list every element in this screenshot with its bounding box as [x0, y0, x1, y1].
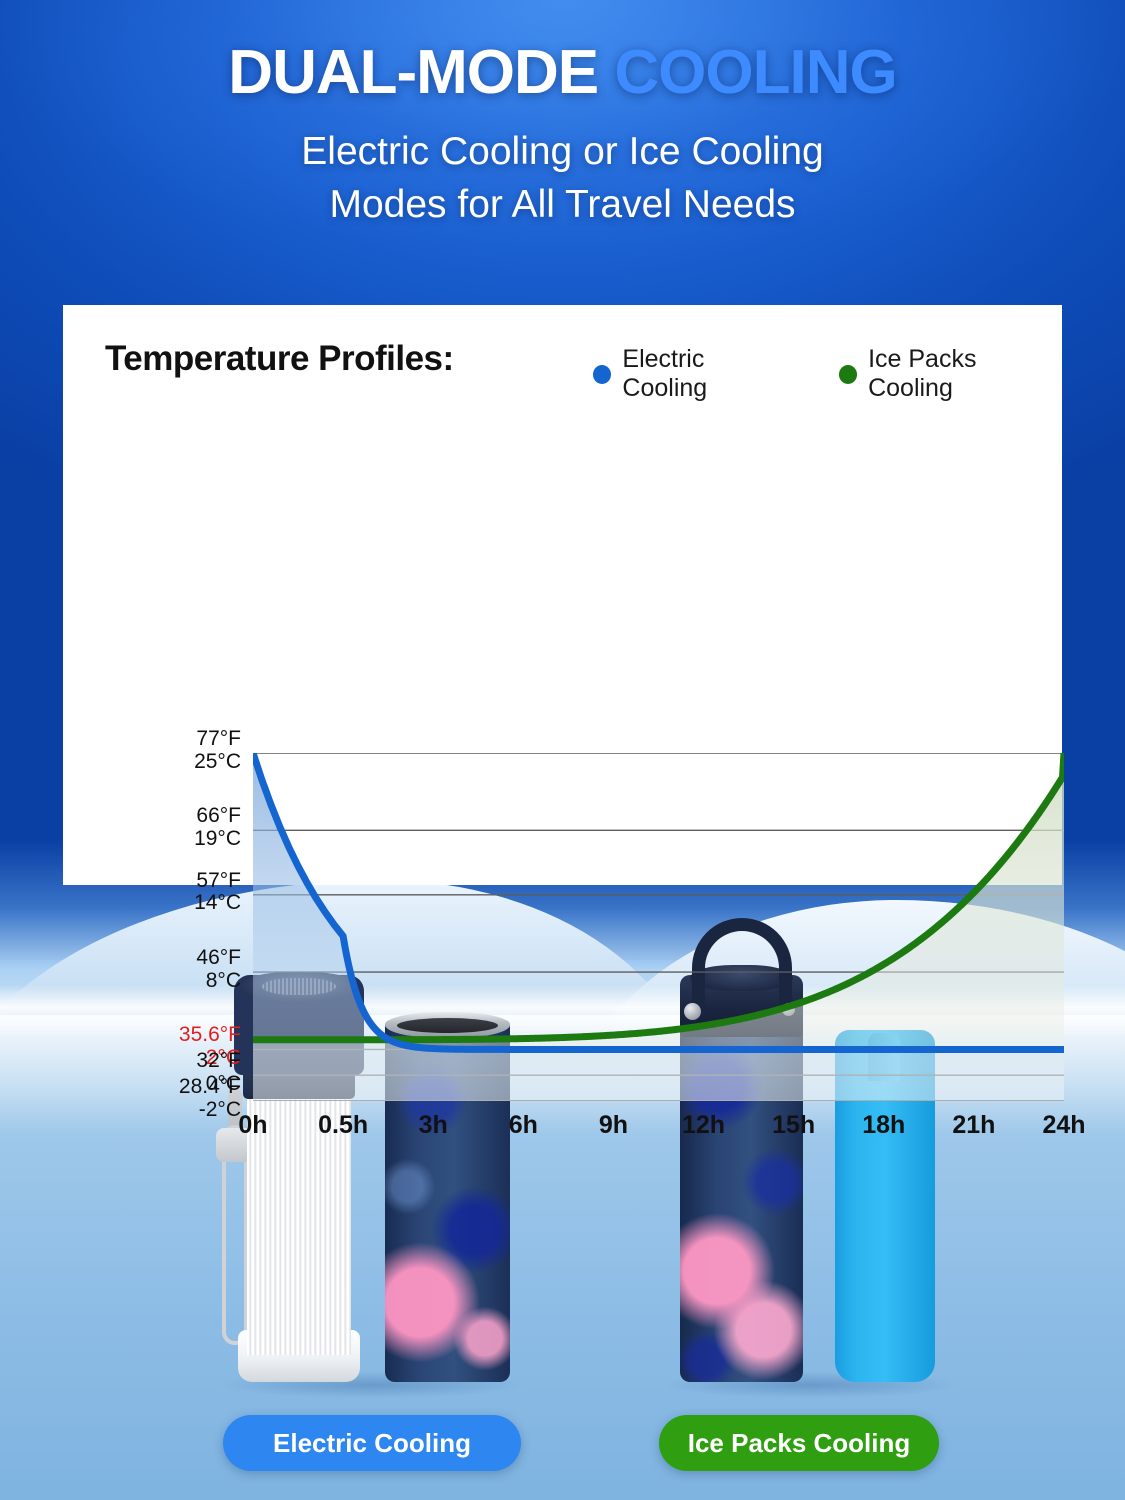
page-title-accent: COOLING [614, 38, 896, 107]
y-tick-fahrenheit: 77°F [71, 728, 241, 751]
pill-ice-packs-cooling[interactable]: Ice Packs Cooling [659, 1415, 939, 1471]
x-tick-label-0: 0h [238, 1111, 267, 1140]
temperature-chart-card: Temperature Profiles: Electric Cooling I… [63, 305, 1062, 885]
x-tick-label-6: 15h [772, 1111, 815, 1140]
legend-item-electric: Electric Cooling [593, 345, 791, 403]
y-tick-label-2: 57°F14°C [71, 870, 241, 915]
page-subtitle: Electric Cooling or Ice Cooling Modes fo… [0, 126, 1125, 231]
x-tick-label-4: 9h [599, 1111, 628, 1140]
y-tick-fahrenheit: 32°F [71, 1050, 241, 1073]
legend-label-electric: Electric Cooling [622, 345, 790, 403]
y-tick-fahrenheit: 66°F [71, 805, 241, 828]
y-tick-label-3: 46°F8°C [71, 947, 241, 992]
y-tick-celsius: 19°C [71, 828, 241, 851]
y-tick-fahrenheit: 57°F [71, 870, 241, 893]
chart-header: Temperature Profiles: Electric Cooling I… [63, 333, 1062, 387]
page-subtitle-line1: Electric Cooling or Ice Cooling [0, 126, 1125, 179]
page-title-main: DUAL-MODE [228, 38, 598, 107]
chart-plot-area [253, 753, 1064, 1101]
x-tick-label-1: 0.5h [318, 1111, 368, 1140]
legend-item-ice: Ice Packs Cooling [839, 345, 1062, 403]
x-tick-label-5: 12h [682, 1111, 725, 1140]
legend-label-ice: Ice Packs Cooling [868, 345, 1062, 403]
y-tick-celsius: 25°C [71, 751, 241, 774]
x-tick-label-7: 18h [862, 1111, 905, 1140]
page-subtitle-line2: Modes for All Travel Needs [0, 179, 1125, 232]
x-tick-label-2: 3h [419, 1111, 448, 1140]
chart-legend: Electric Cooling Ice Packs Cooling [593, 345, 1062, 403]
pill-electric-cooling[interactable]: Electric Cooling [223, 1415, 521, 1471]
chart-svg [253, 753, 1064, 1101]
x-tick-label-9: 24h [1042, 1111, 1085, 1140]
legend-dot-blue-icon [593, 365, 611, 384]
y-tick-fahrenheit: 28.4°F [71, 1076, 241, 1099]
mode-labels: Electric Cooling Ice Packs Cooling [0, 1415, 1125, 1485]
y-tick-celsius: 14°C [71, 892, 241, 915]
x-tick-label-8: 21h [952, 1111, 995, 1140]
legend-dot-green-icon [839, 365, 857, 384]
y-tick-celsius: -2°C [71, 1099, 241, 1122]
y-tick-label-0: 77°F25°C [71, 728, 241, 773]
page-title: DUAL-MODE COOLING [0, 42, 1125, 104]
y-tick-label-1: 66°F19°C [71, 805, 241, 850]
y-tick-label-6: 28.4°F-2°C [71, 1076, 241, 1121]
x-tick-label-3: 6h [509, 1111, 538, 1140]
chart-title: Temperature Profiles: [105, 339, 454, 379]
y-tick-celsius: 8°C [71, 970, 241, 993]
header-block: DUAL-MODE COOLING Electric Cooling or Ic… [0, 42, 1125, 231]
y-tick-fahrenheit: 35.6°F [71, 1024, 241, 1047]
y-tick-fahrenheit: 46°F [71, 947, 241, 970]
